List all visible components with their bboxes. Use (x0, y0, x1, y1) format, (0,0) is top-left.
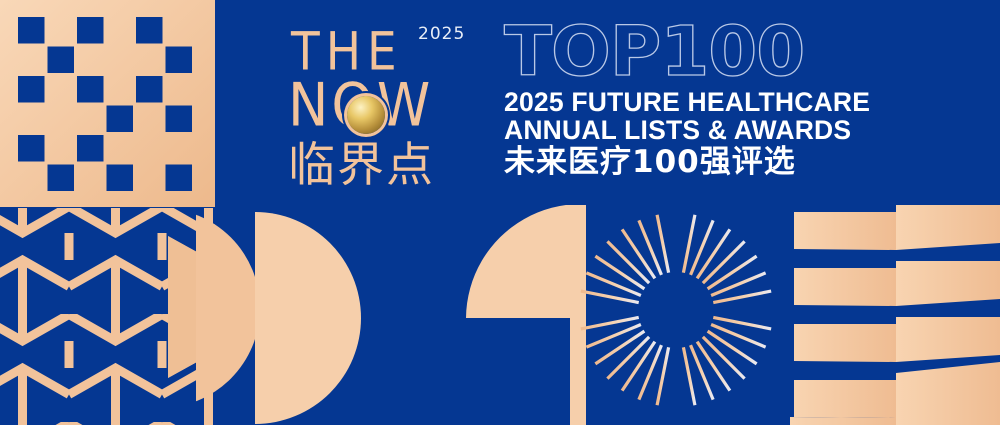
brand-lockup: THE 2025 NOW 临界点 (288, 18, 488, 198)
checker-cell (136, 76, 163, 103)
checker-cell (48, 165, 75, 192)
checker-cell (107, 165, 134, 192)
chevron-stripes-pattern (790, 205, 1000, 425)
checker-cell (18, 17, 45, 44)
checker-cell (136, 17, 163, 44)
checker-cell (18, 76, 45, 103)
checker-cell (166, 106, 193, 133)
brand-chinese-text: 临界点 (288, 142, 435, 189)
checkerboard-block (0, 0, 215, 207)
headline-line-3-chinese: 未来医疗100强评选 (504, 145, 849, 180)
headline-line-2: ANNUAL LISTS & AWARDS (504, 116, 849, 144)
checker-cell (107, 106, 134, 133)
gold-sphere-icon (347, 96, 385, 134)
checker-cell (18, 135, 45, 162)
checker-cell (77, 76, 104, 103)
headline-block: TOP100 2025 FUTURE HEALTHCARE ANNUAL LIS… (504, 20, 849, 179)
banner-root: THE 2025 NOW 临界点 TOP100 2025 FUTURE HEAL… (0, 0, 1000, 425)
checker-cell (166, 165, 193, 192)
top100-display-text: TOP100 (504, 20, 856, 86)
checker-cell (77, 17, 104, 44)
checker-cell (48, 47, 75, 74)
brand-year-badge: 2025 (418, 24, 465, 44)
checker-cell (166, 47, 193, 74)
checker-cell (77, 135, 104, 162)
